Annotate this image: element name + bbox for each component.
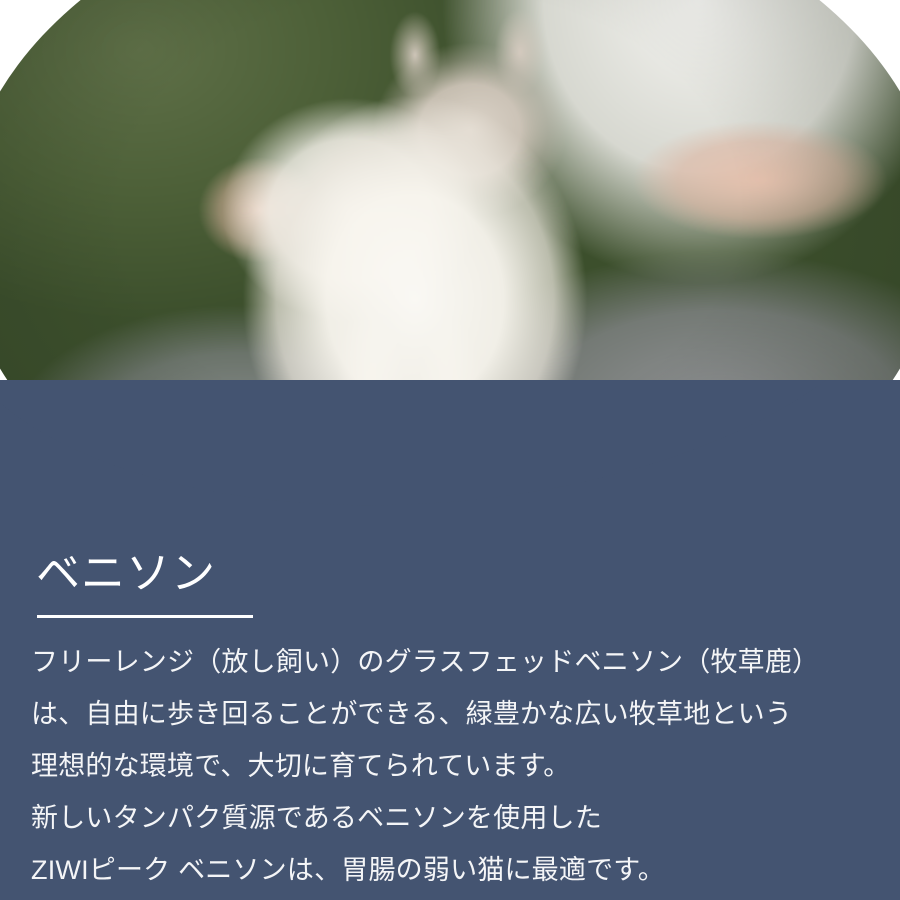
- description-line: は、自由に歩き回ることができる、緑豊かな広い牧草地という: [31, 688, 881, 740]
- description-line: フリーレンジ（放し飼い）のグラスフェッドベニソン（牧草鹿）: [31, 636, 881, 688]
- info-panel-curved-edge: [0, 380, 900, 541]
- product-info-card: ベニソン フリーレンジ（放し飼い）のグラスフェッドベニソン（牧草鹿） は、自由に…: [0, 0, 900, 900]
- description-line: 理想的な環境で、大切に育てられています。: [31, 740, 881, 792]
- description-paragraph: フリーレンジ（放し飼い）のグラスフェッドベニソン（牧草鹿） は、自由に歩き回るこ…: [31, 636, 881, 896]
- description-line: ZIWIピーク ベニソンは、胃腸の弱い猫に最適です。: [31, 844, 881, 896]
- description-line: 新しいタンパク質源であるベニソンを使用した: [31, 792, 881, 844]
- page-title: ベニソン: [36, 552, 216, 596]
